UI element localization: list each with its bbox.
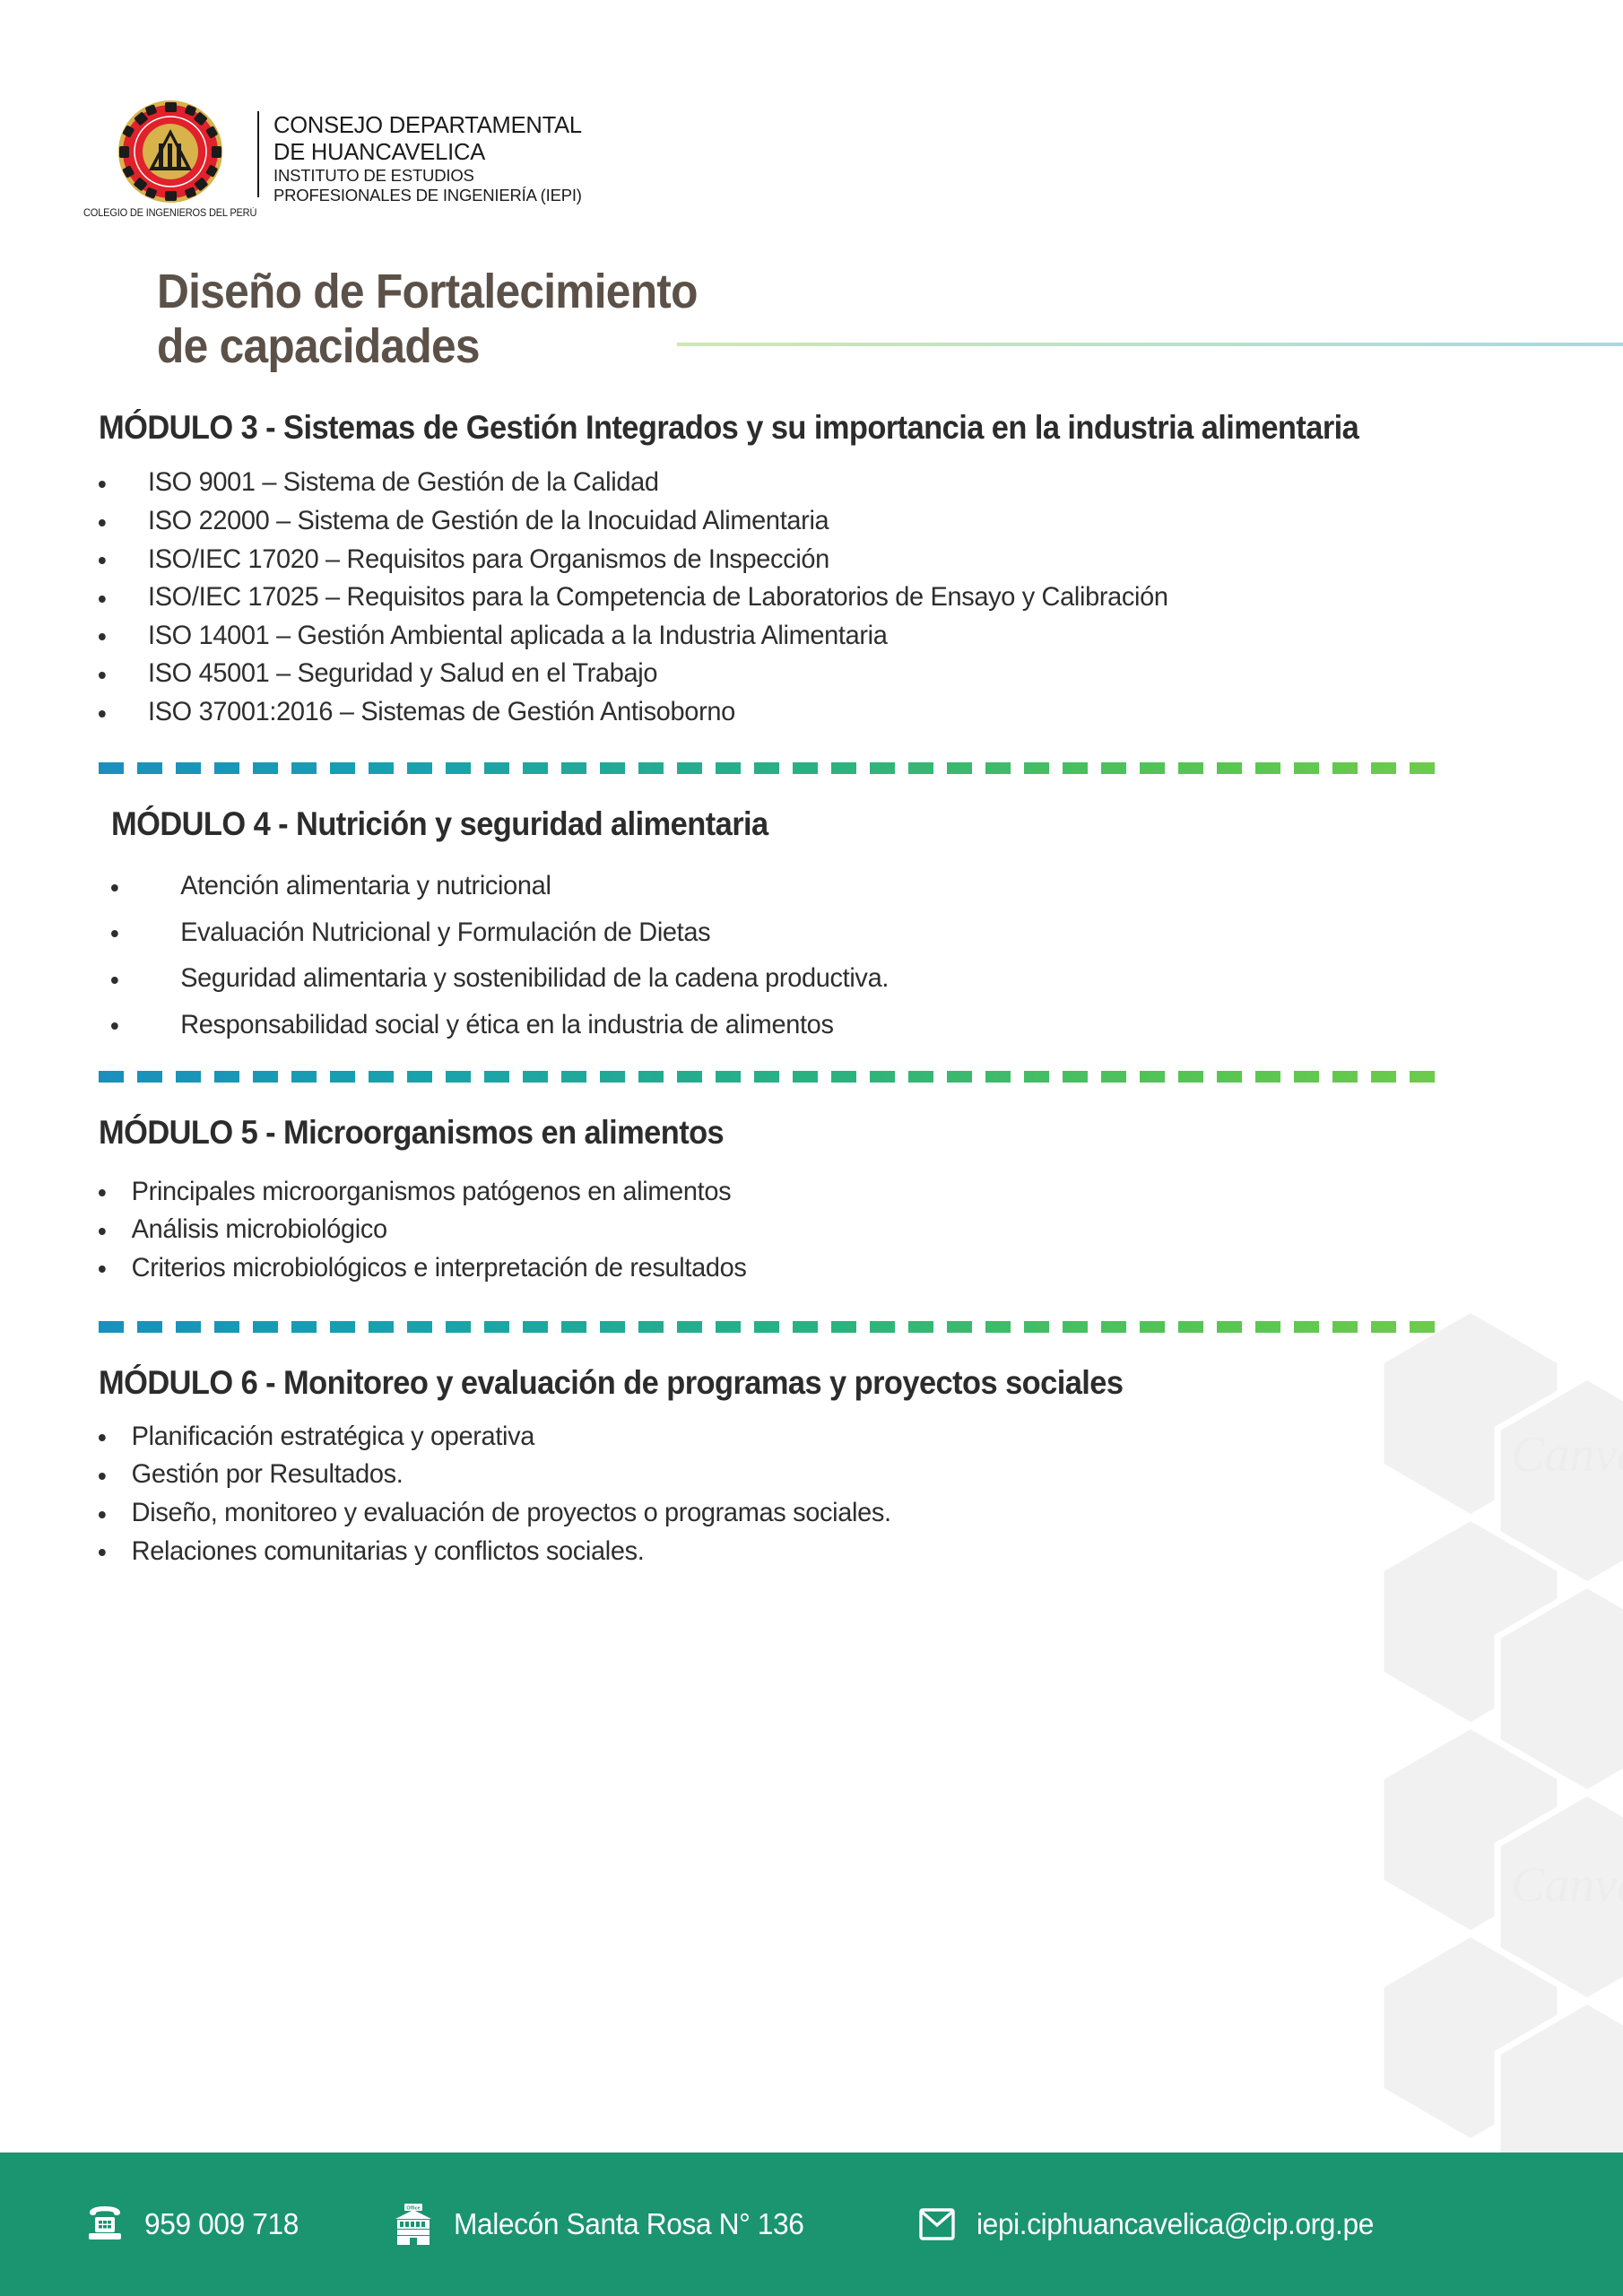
bullet-dot-icon [111,1022,118,1030]
page-title: Diseño de Fortalecimiento de capacidades [157,265,698,374]
contact-footer: 959 009 718 Office [0,2152,1623,2296]
list-item-text: ISO 37001:2016 – Sistemas de Gestión Ant… [148,693,1471,732]
list-item: ISO 45001 – Seguridad y Salud en el Trab… [99,655,1471,693]
list-item-text: Evaluación Nutricional y Formulación de … [180,914,1471,952]
module-section-4: MÓDULO 4 - Nutrición y seguridad aliment… [111,804,1520,1045]
bullet-dot-icon [99,557,106,564]
module-heading: MÓDULO 4 - Nutrición y seguridad aliment… [111,804,1421,844]
footer-phone-label: 959 009 718 [144,2207,299,2241]
bullet-dot-icon [99,1511,106,1518]
list-item-text: ISO 14001 – Gestión Ambiental aplicada a… [148,617,1471,656]
module-heading: MÓDULO 6 - Monitoreo y evaluación de pro… [99,1363,1420,1403]
list-item: ISO 37001:2016 – Sistemas de Gestión Ant… [99,693,1471,732]
list-item-text: Responsabilidad social y ética en la ind… [180,1006,1471,1045]
list-item-text: Atención alimentaria y nutricional [180,867,1471,906]
footer-phone[interactable]: 959 009 718 [85,2204,305,2245]
module-bullet-list: Atención alimentaria y nutricional Evalu… [111,867,1520,1044]
footer-address[interactable]: Office Malecón Santa Rosa N° 136 [393,2202,819,2247]
list-item-text: ISO/IEC 17020 – Requisitos para Organism… [148,541,1471,579]
bullet-dot-icon [111,884,118,891]
list-item-text: Diseño, monitoreo y evaluación de proyec… [132,1494,1471,1533]
office-building-icon: Office [393,2202,434,2247]
svg-text:Canva: Canva [1511,1857,1623,1913]
list-item: Seguridad alimentaria y sostenibilidad d… [111,960,1471,998]
list-item: Atención alimentaria y nutricional [111,867,1471,906]
module-heading: MÓDULO 3 - Sistemas de Gestión Integrado… [99,408,1420,448]
list-item: ISO/IEC 17020 – Requisitos para Organism… [99,541,1471,579]
list-item-text: ISO 45001 – Seguridad y Salud en el Trab… [148,655,1471,693]
list-item-text: ISO 9001 – Sistema de Gestión de la Cali… [148,464,1471,502]
modules-content: MÓDULO 3 - Sistemas de Gestión Integrado… [99,408,1520,1570]
module-bullet-list: ISO 9001 – Sistema de Gestión de la Cali… [99,464,1520,731]
module-section-3: MÓDULO 3 - Sistemas de Gestión Integrado… [99,408,1520,732]
list-item: Evaluación Nutricional y Formulación de … [111,914,1471,952]
envelope-icon [917,2205,957,2244]
module-heading: MÓDULO 5 - Microorganismos en alimentos [99,1113,1420,1152]
bullet-dot-icon [99,1189,106,1196]
list-item: Planificación estratégica y operativa [99,1418,1471,1457]
list-item-text: Análisis microbiológico [132,1211,1471,1249]
module-bullet-list: Planificación estratégica y operativa Ge… [99,1418,1520,1570]
footer-email-label: iepi.ciphuancavelica@cip.org.pe [976,2207,1374,2241]
list-item-text: ISO/IEC 17025 – Requisitos para la Compe… [148,578,1471,617]
list-item-text: Gestión por Resultados. [132,1456,1471,1494]
list-item-text: Principales microorganismos patógenos en… [132,1173,1471,1212]
bullet-dot-icon [99,519,106,526]
list-item-text: Relaciones comunitarias y conflictos soc… [132,1533,1471,1571]
list-item: Gestión por Resultados. [99,1456,1471,1494]
organization-name-block: CONSEJO DEPARTAMENTAL DE HUANCAVELICA IN… [273,113,582,205]
list-item: Criterios microbiológicos e interpretaci… [99,1249,1471,1288]
list-item: ISO 9001 – Sistema de Gestión de la Cali… [99,464,1471,502]
bullet-dot-icon [99,596,106,603]
list-item: Principales microorganismos patógenos en… [99,1173,1471,1212]
bullet-dot-icon [111,977,118,984]
bullet-dot-icon [99,1549,106,1556]
list-item-text: Criterios microbiológicos e interpretaci… [132,1249,1471,1288]
footer-address-label: Malecón Santa Rosa N° 136 [454,2207,804,2241]
list-item: Diseño, monitoreo y evaluación de proyec… [99,1494,1471,1533]
org-line-2: DE HUANCAVELICA [273,140,582,167]
list-item-text: Planificación estratégica y operativa [132,1418,1471,1457]
header-vertical-divider [257,111,259,197]
org-line-3: INSTITUTO DE ESTUDIOS [273,166,582,186]
bullet-dot-icon [99,1228,106,1235]
list-item-text: ISO 22000 – Sistema de Gestión de la Ino… [148,502,1471,541]
section-divider [99,1071,1439,1083]
section-divider [99,1321,1439,1333]
document-page: Canva Canva [0,0,1623,2296]
module-section-6: MÓDULO 6 - Monitoreo y evaluación de pro… [99,1363,1520,1570]
logo-caption: COLEGIO DE INGENIEROS DEL PERÚ [83,208,256,219]
list-item: ISO 14001 – Gestión Ambiental aplicada a… [99,617,1471,656]
title-block: Diseño de Fortalecimiento de capacidades [157,265,744,374]
org-line-1: CONSEJO DEPARTAMENTAL [273,113,582,140]
list-item: Responsabilidad social y ética en la ind… [111,1006,1471,1045]
telephone-icon [85,2204,125,2245]
bullet-dot-icon [99,1473,106,1480]
cip-logo-block: COLEGIO DE INGENIEROS DEL PERÚ [85,99,256,219]
bullet-dot-icon [99,1434,106,1441]
org-line-4: PROFESIONALES DE INGENIERÍA (IEPI) [273,186,582,205]
module-section-5: MÓDULO 5 - Microorganismos en alimentos … [99,1113,1520,1287]
bullet-dot-icon [99,481,106,488]
bullet-dot-icon [111,930,118,937]
cip-seal-icon [117,99,224,204]
list-item-text: Seguridad alimentaria y sostenibilidad d… [180,960,1471,998]
bullet-dot-icon [99,672,106,679]
bullet-dot-icon [99,1265,106,1273]
svg-text:Canva: Canva [1511,1427,1623,1483]
footer-email[interactable]: iepi.ciphuancavelica@cip.org.pe [917,2205,1390,2244]
list-item: Análisis microbiológico [99,1211,1471,1249]
bullet-dot-icon [99,633,106,640]
list-item: ISO/IEC 17025 – Requisitos para la Compe… [99,578,1471,617]
list-item: ISO 22000 – Sistema de Gestión de la Ino… [99,502,1471,541]
title-accent-rule [677,343,1623,346]
module-bullet-list: Principales microorganismos patógenos en… [99,1173,1520,1288]
list-item: Relaciones comunitarias y conflictos soc… [99,1533,1471,1571]
bullet-dot-icon [99,710,106,717]
document-header: COLEGIO DE INGENIEROS DEL PERÚ CONSEJO D… [85,99,582,219]
section-divider [99,762,1439,774]
